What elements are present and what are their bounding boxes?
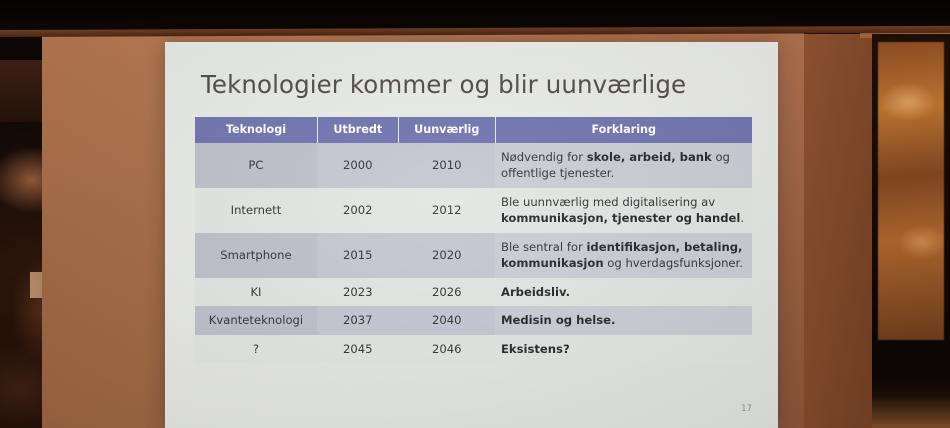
cell-teknologi: ? [195,335,317,363]
forklaring-text: og hverdagsfunksjoner. [604,256,743,270]
cell-teknologi: Smartphone [195,233,317,278]
slide-title: Teknologier kommer og blir uunværlige [201,70,752,99]
column-header-forklaring: Forklaring [495,117,751,143]
column-header-teknologi: Teknologi [195,117,317,143]
table-row: Kvanteteknologi20372040Medisin og helse. [195,306,752,334]
cell-utbredt: 2000 [317,143,398,188]
forklaring-emphasis: skole, arbeid, bank [587,150,712,164]
cell-uunvaerlig: 2040 [398,306,495,334]
column-header-utbredt: Utbredt [317,117,398,143]
cell-forklaring: Medisin og helse. [495,306,751,334]
table-row: KI20232026Arbeidsliv. [195,278,752,306]
cell-teknologi: Internett [195,188,317,233]
column-header-uunvaerlig: Uunværlig [398,117,495,143]
forklaring-emphasis: Eksistens? [501,342,570,356]
cell-utbredt: 2023 [317,278,398,306]
forklaring-emphasis: kommunikasjon, tjenester og handel [501,211,740,225]
forklaring-text: Ble sentral for [501,240,586,254]
cell-utbredt: 2045 [317,335,398,363]
presentation-slide: Teknologier kommer og blir uunværlige Te… [165,42,778,428]
cell-forklaring: Arbeidsliv. [495,278,751,306]
cell-forklaring: Nødvendig for skole, arbeid, bank og off… [495,143,751,188]
wall-artwork-right [872,34,950,380]
cell-forklaring: Ble sentral for identifikasjon, betaling… [495,233,751,278]
cell-teknologi: PC [195,143,317,188]
table-row: ?20452046Eksistens? [195,335,752,363]
cell-forklaring: Ble uunnværlig med digitalisering av kom… [495,188,751,233]
cell-uunvaerlig: 2012 [398,188,495,233]
table-row: Smartphone20152020Ble sentral for identi… [195,233,752,278]
slide-number: 17 [741,404,752,414]
cell-teknologi: Kvanteteknologi [195,306,317,334]
projection-wall-right-edge [804,34,876,428]
cell-utbredt: 2002 [317,188,398,233]
table-header-row: Teknologi Utbredt Uunværlig Forklaring [195,117,752,143]
wall-artwork-right-lower [872,376,950,428]
cell-teknologi: KI [195,278,317,306]
cell-uunvaerlig: 2010 [398,143,495,188]
forklaring-emphasis: Medisin og helse. [501,313,615,327]
forklaring-emphasis: Arbeidsliv. [501,285,570,299]
cell-utbredt: 2015 [317,233,398,278]
table-body: PC20002010Nødvendig for skole, arbeid, b… [195,143,752,363]
cell-uunvaerlig: 2020 [398,233,495,278]
cell-forklaring: Eksistens? [495,335,751,363]
forklaring-text: Nødvendig for [501,150,587,164]
table-row: Internett20022012Ble uunnværlig med digi… [195,188,752,233]
cell-uunvaerlig: 2026 [398,278,495,306]
cell-utbredt: 2037 [317,306,398,334]
forklaring-text: . [740,211,744,225]
technology-timeline-table: Teknologi Utbredt Uunværlig Forklaring P… [195,117,752,363]
forklaring-text: Ble uunnværlig med digitalisering av [501,195,715,209]
wall-artwork-right-canvas [878,42,944,340]
table-row: PC20002010Nødvendig for skole, arbeid, b… [195,143,752,188]
cell-uunvaerlig: 2046 [398,335,495,363]
